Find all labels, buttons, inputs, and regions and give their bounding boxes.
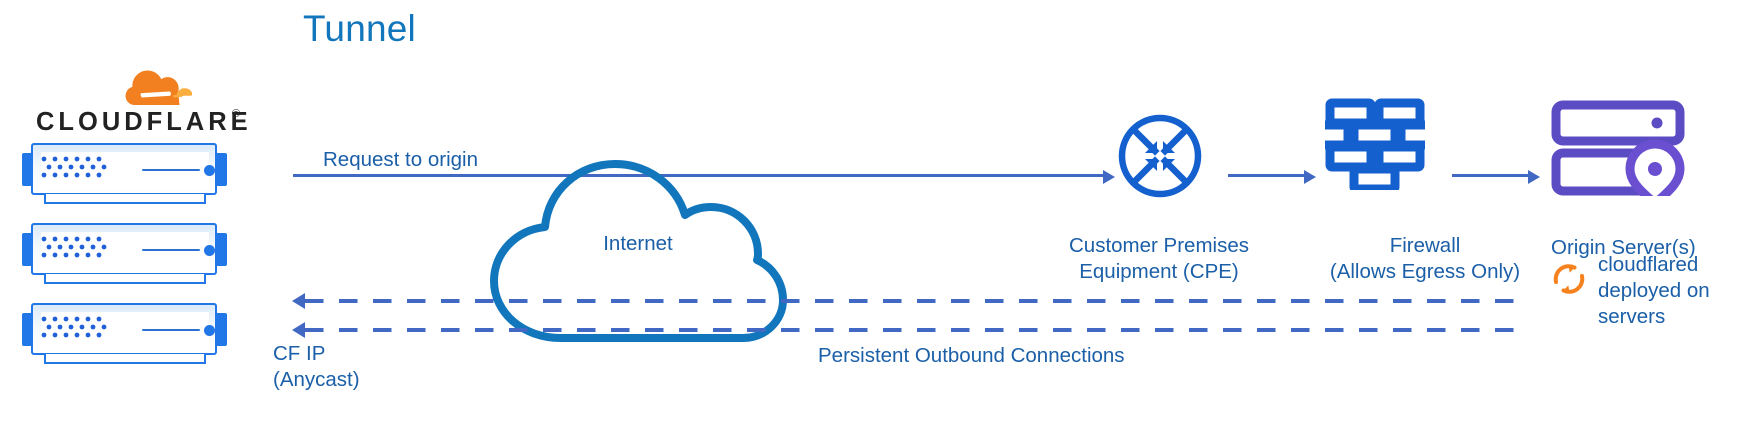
page-title: Tunnel [303,8,416,50]
server-faceplate [41,152,209,188]
outbound-arrow-head-bottom [292,322,305,338]
firewall-label: Firewall (Allows Egress Only) [1291,233,1559,285]
cloudflared-label-line1: cloudflared [1598,252,1743,278]
cpe-label-line2: Equipment (CPE) [1051,259,1267,285]
brick-wall-firewall-icon [1325,98,1425,190]
cf-edge-server-3 [22,302,227,364]
cloudflare-wordmark: CLOUDFLARE [36,108,252,137]
server-vents-icon [41,316,115,342]
server-vents-icon [41,156,115,182]
sync-arrows-icon [1550,260,1588,298]
origin-server-pin-icon [1551,100,1685,196]
cf-edge-server-2 [22,222,227,284]
server-slot [142,169,200,171]
router-arrows-circle-icon [1117,113,1203,199]
cf-ip-label: CF IP (Anycast) [273,341,360,393]
request-to-origin-label: Request to origin [323,147,478,173]
tunnel-diagram-canvas: Tunnel CLOUDFLARE ® [0,0,1754,422]
firewall-icon-wrap [1325,98,1425,190]
server-led [204,165,215,176]
internet-label: Internet [488,232,788,256]
cf-ip-label-line1: CF IP [273,341,360,367]
outbound-arrow-head-top [292,293,305,309]
server-slot [142,329,200,331]
server-slot [142,249,200,251]
firewall-to-origin-arrow-head [1528,170,1540,184]
cf-edge-server-1 [22,142,227,204]
cloudflared-label: cloudflared deployed on servers [1598,252,1743,330]
cloudflare-trademark: ® [232,108,240,120]
server-chassis [31,223,217,275]
server-base [44,354,206,364]
cpe-to-firewall-line [1228,174,1306,177]
cloudflare-cloud-icon [117,66,322,106]
cf-ip-label-line2: (Anycast) [273,367,360,393]
outbound-dashed-line-bottom [305,328,1527,332]
cpe-label: Customer Premises Equipment (CPE) [1051,233,1267,285]
cpe-router-icon-wrap [1117,113,1203,199]
request-arrow-head [1103,170,1115,184]
firewall-label-line2: (Allows Egress Only) [1291,259,1559,285]
cpe-label-line1: Customer Premises [1051,233,1267,259]
server-faceplate [41,312,209,348]
cpe-to-firewall-arrow-head [1304,170,1316,184]
server-base [44,274,206,284]
server-led [204,325,215,336]
server-vents-icon [41,236,115,262]
cloudflared-label-line2: deployed on [1598,278,1743,304]
server-led [204,245,215,256]
server-chassis [31,143,217,195]
origin-server-icon-wrap [1551,100,1685,196]
cloudflared-icon-wrap [1550,260,1588,298]
internet-cloud: Internet [488,156,788,344]
firewall-to-origin-line [1452,174,1530,177]
outbound-dashed-line-top [305,299,1527,303]
server-base [44,194,206,204]
firewall-label-line1: Firewall [1291,233,1559,259]
cloudflared-label-line3: servers [1598,304,1743,330]
cloudflare-logo: CLOUDFLARE ® [33,72,238,142]
server-faceplate [41,232,209,268]
persistent-outbound-connections-label: Persistent Outbound Connections [818,343,1125,369]
server-chassis [31,303,217,355]
